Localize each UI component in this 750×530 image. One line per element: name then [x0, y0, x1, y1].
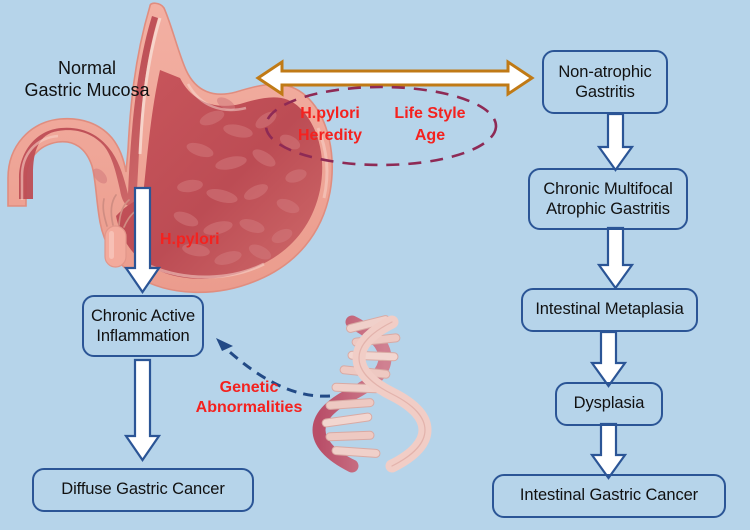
- node-chronic-multifocal-atrophic-gastritis[interactable]: Chronic Multifocal Atrophic Gastritis: [528, 168, 688, 230]
- risk-factor-h-pylori: H.pylori: [287, 104, 373, 124]
- node-chronic-multifocal-atrophic-gastritis-text: Chronic Multifocal Atrophic Gastritis: [543, 179, 672, 219]
- dna-double-helix-illustration: [319, 315, 425, 466]
- node-chronic-active-inflammation-line1: Chronic Active: [91, 306, 195, 326]
- risk-factors-text-group: H.pylori Heredity Life Style Age: [287, 104, 477, 152]
- gastric-carcinogenesis-diagram: Normal Gastric Mucosa H.pylori Heredity …: [0, 0, 750, 530]
- genetic-abnormalities-label: Genetic Abnormalities: [186, 378, 312, 418]
- node-chronic-active-inflammation-text: Chronic Active Inflammation: [91, 306, 195, 346]
- arrow-metaplasia-to-dysplasia: [592, 332, 625, 386]
- node-chronic-active-inflammation-line2: Inflammation: [91, 326, 195, 346]
- genetic-abnormalities-line2: Abnormalities: [186, 398, 312, 418]
- normal-gastric-mucosa-label-line1: Normal: [12, 58, 162, 80]
- risk-factor-heredity: Heredity: [287, 126, 373, 146]
- node-non-atrophic-gastritis-line2: Gastritis: [558, 82, 651, 102]
- node-non-atrophic-gastritis[interactable]: Non-atrophic Gastritis: [542, 50, 668, 114]
- node-intestinal-metaplasia-label: Intestinal Metaplasia: [535, 300, 683, 319]
- normal-gastric-mucosa-label: Normal Gastric Mucosa: [12, 58, 162, 102]
- node-dysplasia-label: Dysplasia: [574, 394, 645, 413]
- genetic-abnormalities-line1: Genetic: [186, 378, 312, 398]
- node-chronic-multifocal-atrophic-gastritis-line2: Atrophic Gastritis: [543, 199, 672, 219]
- node-diffuse-gastric-cancer[interactable]: Diffuse Gastric Cancer: [32, 468, 254, 512]
- node-chronic-active-inflammation[interactable]: Chronic Active Inflammation: [82, 295, 204, 357]
- node-non-atrophic-gastritis-line1: Non-atrophic: [558, 62, 651, 82]
- risk-factor-age: Age: [383, 126, 477, 146]
- normal-gastric-mucosa-label-line2: Gastric Mucosa: [12, 80, 162, 102]
- node-chronic-multifocal-atrophic-gastritis-line1: Chronic Multifocal: [543, 179, 672, 199]
- node-intestinal-metaplasia[interactable]: Intestinal Metaplasia: [521, 288, 698, 332]
- risk-factor-life-style: Life Style: [383, 104, 477, 124]
- arrow-inflammation-to-diffuse-cancer: [126, 360, 159, 460]
- arrow-nonatrophic-to-multifocal: [599, 114, 632, 170]
- h-pylori-bacterium-icon: [103, 195, 138, 267]
- node-intestinal-gastric-cancer[interactable]: Intestinal Gastric Cancer: [492, 474, 726, 518]
- arrow-multifocal-to-metaplasia: [599, 228, 632, 288]
- arrow-mucosa-to-inflammation: [126, 188, 159, 292]
- node-diffuse-gastric-cancer-label: Diffuse Gastric Cancer: [61, 480, 224, 499]
- node-non-atrophic-gastritis-text: Non-atrophic Gastritis: [558, 62, 651, 102]
- node-intestinal-gastric-cancer-label: Intestinal Gastric Cancer: [520, 486, 698, 505]
- arrow-dysplasia-to-intestinal-cancer: [592, 424, 625, 478]
- bidirectional-risk-arrow: [258, 62, 532, 94]
- h-pylori-arrow-label: H.pylori: [160, 230, 240, 250]
- node-dysplasia[interactable]: Dysplasia: [555, 382, 663, 426]
